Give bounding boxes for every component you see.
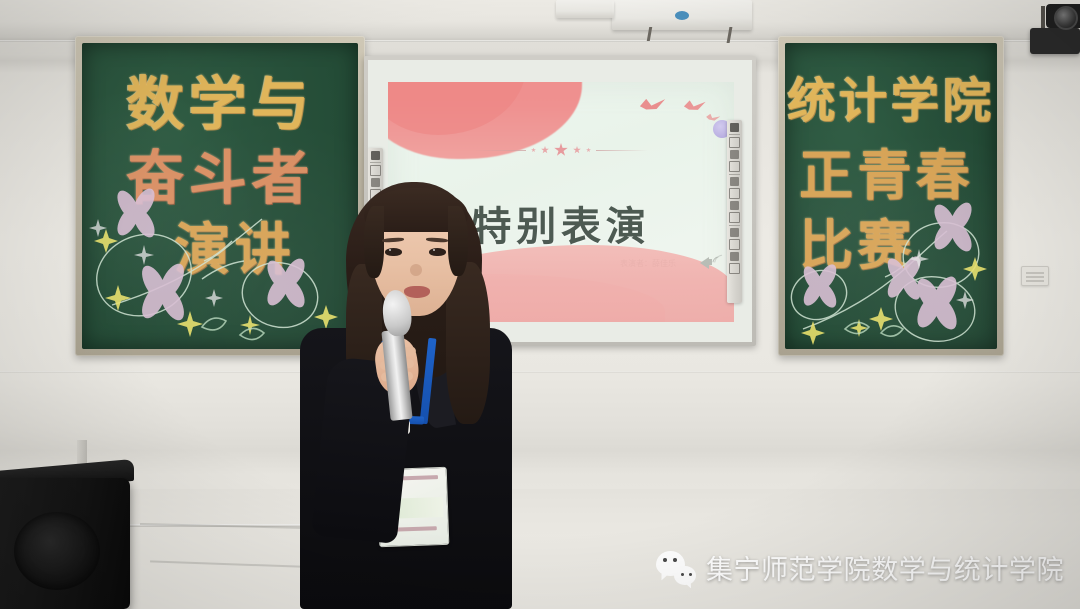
tool-undo-icon-r[interactable] bbox=[730, 252, 739, 261]
right-board-line-1: 统计学院 bbox=[785, 61, 997, 131]
presenter-fringe-left bbox=[364, 206, 384, 278]
divider-rule-right bbox=[596, 150, 648, 151]
star-icon-5 bbox=[586, 148, 591, 153]
presenter bbox=[290, 180, 540, 609]
bird-icon-1 bbox=[639, 96, 667, 115]
tool-save-icon-r[interactable] bbox=[730, 228, 739, 237]
right-board-line-2: 正青春 bbox=[785, 131, 997, 210]
tool-pen-icon-r[interactable] bbox=[729, 137, 740, 148]
camera-lens-icon bbox=[1054, 6, 1078, 30]
iwb-right-toolbar[interactable] bbox=[727, 120, 742, 303]
channel-watermark: 集宁师范学院数学与统计学院 bbox=[656, 548, 1064, 587]
tool-line-icon-r[interactable] bbox=[729, 188, 740, 199]
tool-eraser-icon-r[interactable] bbox=[729, 161, 740, 172]
brand-logo-icon bbox=[675, 11, 689, 20]
star-icon-3 bbox=[554, 143, 568, 157]
wall-vent-plate bbox=[1021, 266, 1049, 286]
wall-camera bbox=[1030, 28, 1080, 54]
tool-settings-icon-r[interactable] bbox=[729, 239, 740, 250]
bird-icon-2 bbox=[684, 99, 707, 115]
tool-select-icon[interactable] bbox=[371, 151, 380, 160]
speaker-icon[interactable] bbox=[700, 254, 722, 268]
watermark-text: 集宁师范学院数学与统计学院 bbox=[706, 548, 1064, 587]
right-board-line-3: 比赛 bbox=[785, 201, 997, 280]
eye-right bbox=[429, 248, 446, 256]
star-icon-2 bbox=[541, 146, 549, 154]
star-icon-4 bbox=[573, 146, 581, 154]
presenter-fringe-right bbox=[448, 206, 468, 276]
star-divider bbox=[388, 143, 734, 157]
right-blackboard: 统计学院 正青春 比赛 bbox=[778, 36, 1004, 356]
star-icon-1 bbox=[531, 148, 536, 153]
right-blackboard-surface: 统计学院 正青春 比赛 bbox=[785, 43, 997, 349]
wechat-icon bbox=[656, 551, 696, 585]
ceiling-rail bbox=[556, 0, 614, 18]
tool-text-icon-r[interactable] bbox=[730, 201, 739, 210]
left-board-line-1: 数学与 bbox=[82, 57, 358, 141]
screenshot-root: 数学与 奋斗者 演讲 bbox=[0, 0, 1080, 609]
nose bbox=[410, 264, 422, 276]
tool-highlighter-icon-r[interactable] bbox=[730, 150, 739, 159]
projector-unit bbox=[612, 0, 752, 30]
eye-left bbox=[385, 248, 402, 256]
tool-image-icon-r[interactable] bbox=[729, 212, 740, 223]
mouth bbox=[404, 286, 430, 298]
wall-seam-mid bbox=[0, 371, 1080, 373]
tool-shape-icon-r[interactable] bbox=[730, 177, 739, 186]
speaker-driver bbox=[14, 512, 100, 590]
tool-more-icon-r[interactable] bbox=[729, 263, 740, 274]
tool-pen-icon[interactable] bbox=[370, 165, 381, 176]
divider-rule-left bbox=[474, 150, 526, 151]
tool-select-icon-r[interactable] bbox=[730, 123, 739, 132]
pa-loudspeaker bbox=[0, 478, 130, 609]
ceiling-band bbox=[0, 0, 1080, 40]
